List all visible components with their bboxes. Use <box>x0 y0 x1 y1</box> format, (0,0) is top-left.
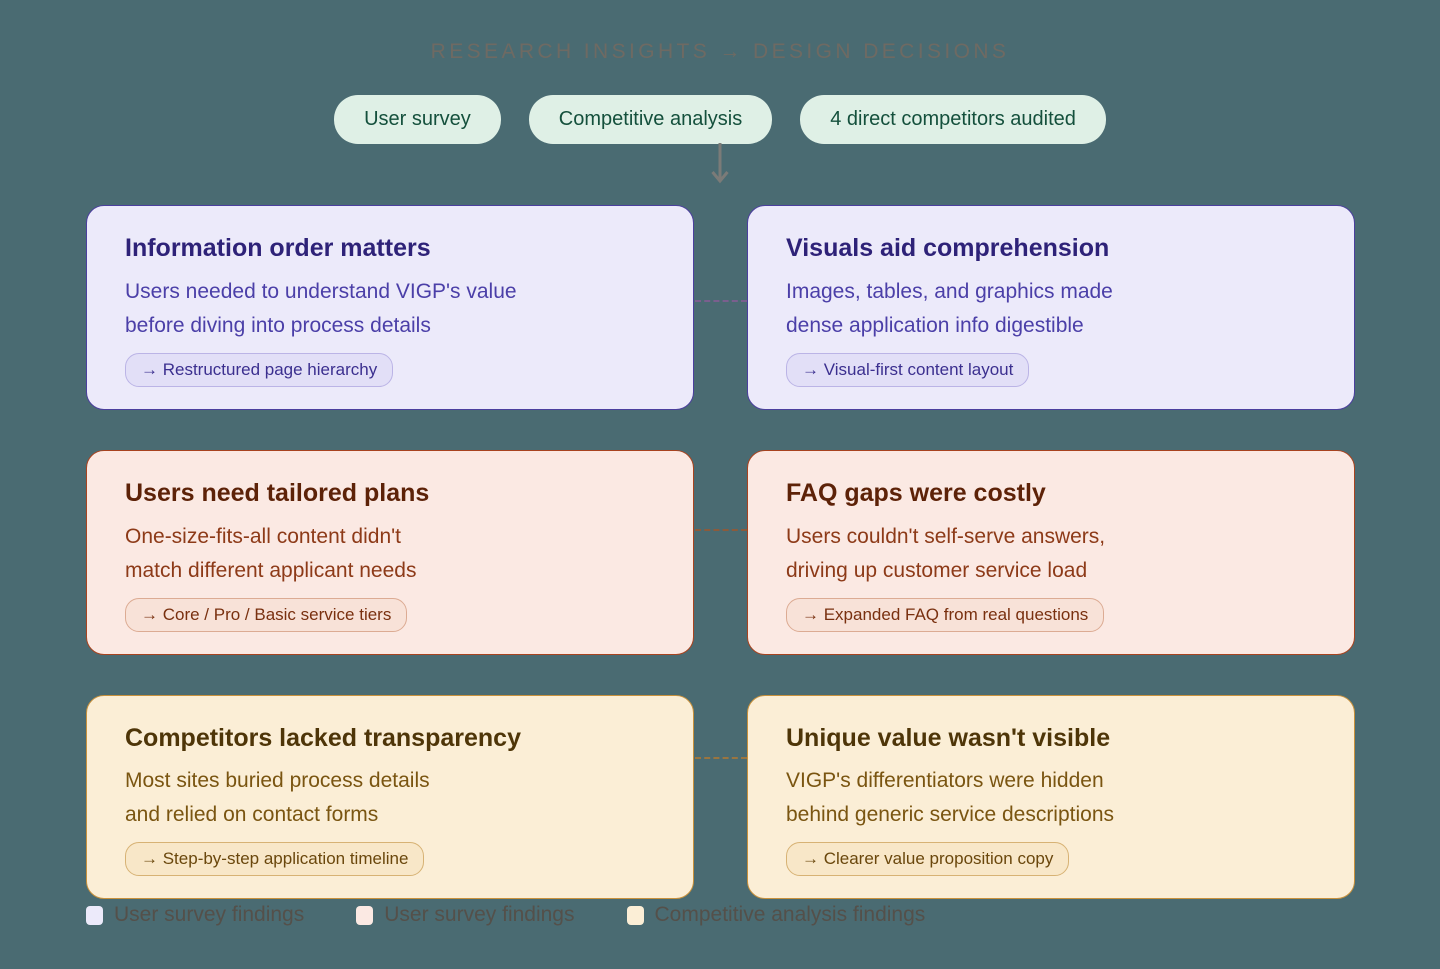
source-chip-user-survey[interactable]: User survey <box>334 95 501 144</box>
insight-card-body-line: Images, tables, and graphics made <box>786 275 1316 309</box>
source-chip-label: User survey <box>364 108 471 130</box>
research-source-chips: User survey Competitive analysis 4 direc… <box>0 95 1440 144</box>
insight-card-competitors-transparency[interactable]: Competitors lacked transparency Most sit… <box>86 695 694 900</box>
source-chip-competitive-analysis[interactable]: Competitive analysis <box>529 95 772 144</box>
source-chip-label: 4 direct competitors audited <box>830 108 1076 130</box>
insight-card-action-tag[interactable]: → Core / Pro / Basic service tiers <box>125 598 407 632</box>
insight-card-body-line: Users needed to understand VIGP's value <box>125 275 655 309</box>
insight-card-body-line: behind generic service descriptions <box>786 798 1316 832</box>
insight-card-body-line: Most sites buried process details <box>125 764 655 798</box>
legend-item-label: User survey findings <box>114 903 304 927</box>
insight-card-body: Most sites buried process details and re… <box>125 764 655 832</box>
legend-item-user-survey-rose: User survey findings <box>356 903 574 927</box>
insight-card-action-tag[interactable]: → Visual-first content layout <box>786 353 1029 387</box>
insight-card-unique-value[interactable]: Unique value wasn't visible VIGP's diffe… <box>747 695 1355 900</box>
insight-card-body: Users couldn't self-serve answers, drivi… <box>786 520 1316 588</box>
insight-card-title: Users need tailored plans <box>125 479 655 508</box>
legend-item-label: Competitive analysis findings <box>655 903 926 927</box>
insight-card-body: VIGP's differentiators were hidden behin… <box>786 764 1316 832</box>
legend-swatch-icon <box>86 906 103 925</box>
insight-card-body-line: One-size-fits-all content didn't <box>125 520 655 554</box>
insight-card-tailored-plans[interactable]: Users need tailored plans One-size-fits-… <box>86 450 694 655</box>
insight-card-body-line: before diving into process details <box>125 309 655 343</box>
insight-card-body-line: driving up customer service load <box>786 554 1316 588</box>
legend-item-competitive-analysis: Competitive analysis findings <box>627 903 926 927</box>
insight-card-body: Users needed to understand VIGP's value … <box>125 275 655 343</box>
insight-card-faq-gaps[interactable]: FAQ gaps were costly Users couldn't self… <box>747 450 1355 655</box>
insight-card-title: Visuals aid comprehension <box>786 234 1316 263</box>
legend-item-label: User survey findings <box>384 903 574 927</box>
legend: User survey findings User survey finding… <box>86 903 925 927</box>
insight-card-body-line: match different applicant needs <box>125 554 655 588</box>
insight-card-action-tag[interactable]: → Restructured page hierarchy <box>125 353 393 387</box>
insight-card-body-line: and relied on contact forms <box>125 798 655 832</box>
insight-card-action-tag[interactable]: → Expanded FAQ from real questions <box>786 598 1104 632</box>
insight-card-visuals-aid-comprehension[interactable]: Visuals aid comprehension Images, tables… <box>747 205 1355 410</box>
insight-card-title: FAQ gaps were costly <box>786 479 1316 508</box>
insight-card-title: Unique value wasn't visible <box>786 724 1316 753</box>
source-chip-competitors-audited[interactable]: 4 direct competitors audited <box>800 95 1106 144</box>
insight-card-body: Images, tables, and graphics made dense … <box>786 275 1316 343</box>
legend-swatch-icon <box>356 906 373 925</box>
insight-card-body-line: Users couldn't self-serve answers, <box>786 520 1316 554</box>
legend-item-user-survey-purple: User survey findings <box>86 903 304 927</box>
insight-card-body-line: VIGP's differentiators were hidden <box>786 764 1316 798</box>
source-chip-label: Competitive analysis <box>559 108 742 130</box>
page-title: RESEARCH INSIGHTS → DESIGN DECISIONS <box>0 40 1440 64</box>
insight-card-body: One-size-fits-all content didn't match d… <box>125 520 655 588</box>
insight-card-action-tag[interactable]: → Clearer value proposition copy <box>786 842 1069 876</box>
insights-board: RESEARCH INSIGHTS → DESIGN DECISIONS Use… <box>0 0 1440 969</box>
insight-card-title: Competitors lacked transparency <box>125 724 655 753</box>
insight-card-body-line: dense application info digestible <box>786 309 1316 343</box>
insight-card-title: Information order matters <box>125 234 655 263</box>
insight-card-grid: Information order matters Users needed t… <box>86 205 1355 899</box>
insight-card-information-order[interactable]: Information order matters Users needed t… <box>86 205 694 410</box>
arrow-down-icon <box>708 141 732 189</box>
insight-card-action-tag[interactable]: → Step-by-step application timeline <box>125 842 424 876</box>
legend-swatch-icon <box>627 906 644 925</box>
